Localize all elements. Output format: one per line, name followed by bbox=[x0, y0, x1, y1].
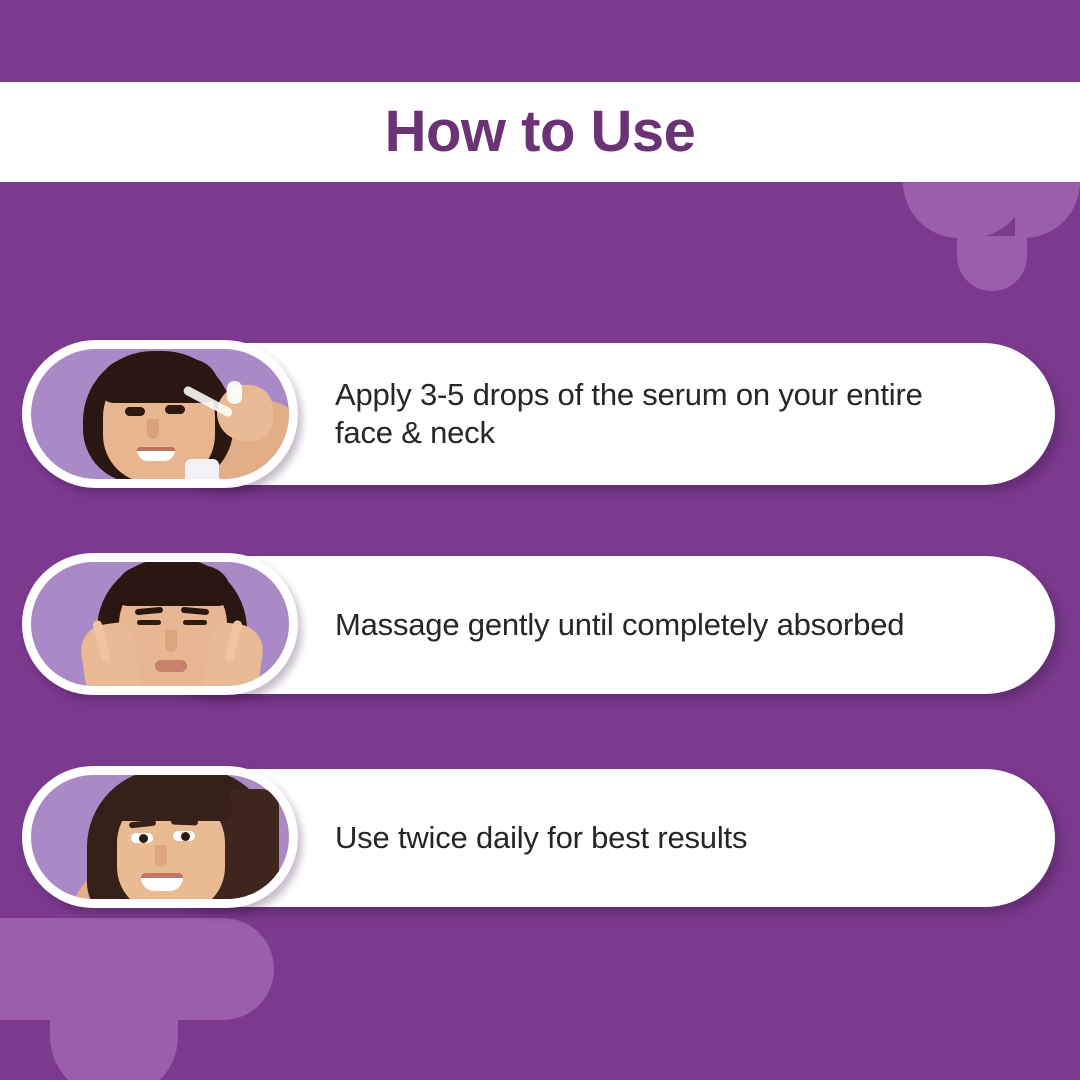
step-image-3 bbox=[31, 775, 289, 899]
list-item: Massage gently until completely absorbed bbox=[0, 553, 1080, 695]
step-thumbnail-3 bbox=[22, 766, 298, 908]
step-image-1 bbox=[31, 349, 289, 479]
list-item: Apply 3-5 drops of the serum on your ent… bbox=[0, 340, 1080, 488]
step-thumbnail-2 bbox=[22, 553, 298, 695]
step-image-2 bbox=[31, 562, 289, 686]
how-to-use-infographic: How to Use Apply 3-5 drops of the serum … bbox=[0, 0, 1080, 1080]
step-thumbnail-1 bbox=[22, 340, 298, 488]
list-item: Use twice daily for best results bbox=[0, 766, 1080, 908]
steps-list: Apply 3-5 drops of the serum on your ent… bbox=[0, 0, 1080, 1080]
